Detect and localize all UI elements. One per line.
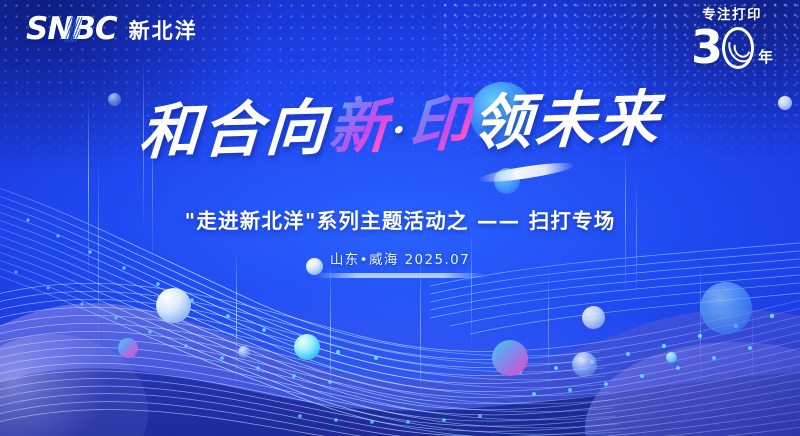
decor-sphere <box>666 352 677 363</box>
decor-sphere <box>238 346 250 358</box>
title-part-2-gradient: 新 <box>326 91 393 163</box>
decor-sphere <box>700 282 752 334</box>
logo-mark-text: SNBC <box>26 11 117 47</box>
dateline-underline <box>315 273 485 278</box>
title-separator-dot: · <box>390 106 410 153</box>
decor-sphere <box>492 340 528 376</box>
title-part-5: 领未来 <box>470 84 664 159</box>
badge-digit-three: 3 <box>691 26 721 70</box>
decor-sphere <box>572 352 597 377</box>
decor-sphere <box>156 288 191 323</box>
title-part-4-gradient: 印 <box>406 89 473 161</box>
page-title: 和合向新·印领未来 <box>137 89 663 164</box>
badge-year-unit: 年 <box>758 46 773 67</box>
event-dateline: 山东•威海 2025.07 <box>0 248 800 278</box>
decor-sphere <box>118 338 138 358</box>
poster-canvas: SNBC 新北洋 专注打印 3 年 和合向新·印领未来 "走进新北洋"系列主题活… <box>0 0 800 436</box>
decor-sphere <box>582 306 605 329</box>
page-subtitle: "走进新北洋"系列主题活动之 —— 扫打专场 <box>0 204 800 234</box>
event-location-date: 山东•威海 2025.07 <box>330 248 470 273</box>
anniversary-badge: 专注打印 3 年 <box>680 8 784 70</box>
logo-brand-cn: 新北洋 <box>129 15 198 45</box>
title-block: 和合向新·印领未来 <box>0 96 800 156</box>
badge-number-group: 3 年 <box>680 24 784 70</box>
brand-logo[interactable]: SNBC 新北洋 <box>26 14 198 45</box>
decor-sphere <box>294 334 320 360</box>
badge-ring-zero-icon <box>722 26 756 70</box>
title-part-1: 和合向 <box>137 93 331 168</box>
logo-mark-snbc: SNBC <box>26 14 117 45</box>
